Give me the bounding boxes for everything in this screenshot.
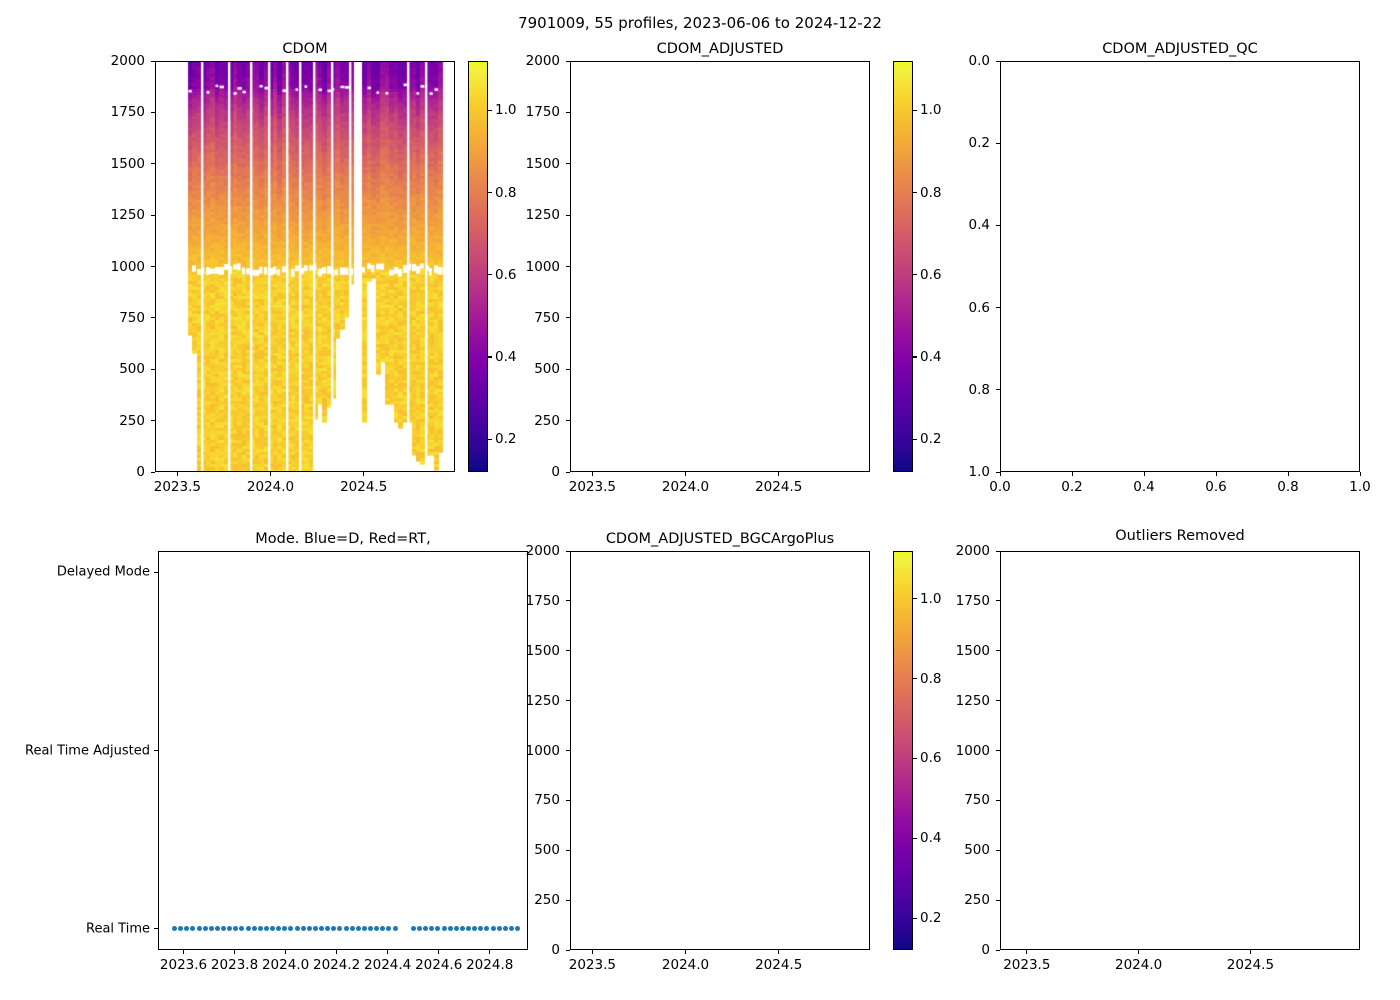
x-tick-label: 2024.2 [313,957,360,973]
y-tick-label: 1500 [890,643,990,659]
y-tick-label: 750 [890,792,990,808]
y-tick-mark [151,266,155,267]
colorbar-tick-label: 0.4 [920,349,941,365]
x-tick-mark [778,950,779,954]
x-tick-label: 2024.8 [466,957,513,973]
x-tick-mark [1072,472,1073,476]
y-tick-mark [566,472,570,473]
x-tick-mark [270,472,271,476]
x-tick-label: 2023.6 [160,957,207,973]
y-tick-label: 250 [460,413,560,429]
y-tick-label: 1500 [460,643,560,659]
y-tick-label: 1000 [45,259,145,275]
y-tick-mark [996,850,1000,851]
colorbar-tick-mark [913,192,917,193]
x-tick-mark [336,950,337,954]
x-tick-mark [177,472,178,476]
y-tick-mark [996,950,1000,951]
mode-data-point [448,926,453,931]
y-tick-mark [996,61,1000,62]
bgcargoplus-heatmap-axes[interactable] [570,551,870,950]
x-tick-mark [438,950,439,954]
y-tick-mark [151,112,155,113]
y-tick-mark [566,420,570,421]
y-tick-mark [996,143,1000,144]
colorbar-tick-mark [913,678,917,679]
y-tick-label: 1500 [45,156,145,172]
x-tick-label: 0.6 [1205,479,1226,495]
x-tick-mark [363,472,364,476]
colorbar-tick-label: 1.0 [920,102,941,118]
x-tick-label: 2024.0 [247,479,294,495]
y-tick-mark [996,700,1000,701]
cdom-heatmap-image [156,62,455,472]
y-tick-mark [566,317,570,318]
y-tick-label: 1750 [460,593,560,609]
colorbar-tick-mark [913,274,917,275]
colorbar-tick-mark [913,110,917,111]
colorbar-tick-label: 0.6 [920,267,941,283]
y-tick-label: 0.6 [890,300,990,316]
y-tick-mark [996,307,1000,308]
panel-bgcargoplus-title-line1: CDOM_ADJUSTED_BGCArgoPlus [606,531,834,547]
y-tick-mark [151,163,155,164]
y-tick-label: 2000 [460,543,560,559]
mode-data-point [442,926,447,931]
y-tick-label: 2000 [460,53,560,69]
y-tick-label: 1000 [460,743,560,759]
y-tick-label: 0 [460,942,560,958]
x-tick-mark [685,472,686,476]
y-tick-label: 1000 [460,259,560,275]
y-tick-mark [566,800,570,801]
y-tick-label: 0.2 [890,135,990,151]
colorbar-tick-label: 0.8 [495,185,516,201]
x-tick-label: 2024.4 [364,957,411,973]
cdom-adjusted-colorbar [893,61,913,472]
cdom-adjusted-qc-axes[interactable] [1000,61,1360,472]
mode-data-point [307,926,312,931]
y-tick-mark [996,900,1000,901]
y-tick-mark [151,420,155,421]
mode-data-point [393,926,398,931]
x-tick-label: 2023.5 [569,479,616,495]
colorbar-tick-label: 0.2 [920,910,941,926]
y-tick-mark [996,750,1000,751]
y-tick-label: 750 [460,792,560,808]
y-tick-label: 1250 [460,207,560,223]
y-tick-label: 2000 [890,543,990,559]
y-tick-mark [566,700,570,701]
y-tick-label: 1000 [890,743,990,759]
x-tick-mark [1288,472,1289,476]
mode-category-label: Real Time Adjusted [0,743,150,758]
y-tick-label: 1250 [460,693,560,709]
mode-data-point [209,926,214,931]
y-tick-label: 0 [45,464,145,480]
mode-category-label: Real Time [0,921,150,936]
x-tick-label: 0.4 [1133,479,1154,495]
outliers-removed-axes[interactable] [1000,551,1360,950]
colorbar-tick-mark [913,439,917,440]
colorbar-tick-mark [913,918,917,919]
y-tick-mark [566,61,570,62]
x-tick-label: 2024.0 [662,957,709,973]
y-tick-label: 750 [460,310,560,326]
y-tick-mark [151,317,155,318]
mode-data-point [301,926,306,931]
colorbar-tick-mark [913,356,917,357]
x-tick-mark [183,950,184,954]
x-tick-mark [592,950,593,954]
y-tick-mark [996,600,1000,601]
y-tick-mark [996,225,1000,226]
y-tick-label: 500 [890,842,990,858]
x-tick-mark [1144,472,1145,476]
mode-data-point [356,926,361,931]
x-tick-mark [1360,472,1361,476]
colorbar-tick-mark [488,356,492,357]
cdom-adjusted-colorbar-gradient [894,62,912,471]
y-tick-mark [151,215,155,216]
x-tick-mark [285,950,286,954]
mode-data-point [503,926,508,931]
x-tick-mark [234,950,235,954]
panel-outliers-removed-title: Outliers Removed [1000,527,1360,546]
x-tick-mark [1250,950,1251,954]
x-tick-mark [1138,950,1139,954]
colorbar-tick-label: 0.2 [495,431,516,447]
y-tick-label: 0 [890,942,990,958]
y-tick-label: 0.0 [890,53,990,69]
mode-data-point [350,926,355,931]
y-tick-mark [566,900,570,901]
y-tick-label: 1250 [890,693,990,709]
mode-data-point [344,926,349,931]
colorbar-tick-label: 0.2 [920,431,941,447]
y-tick-mark [566,950,570,951]
y-tick-mark [154,750,158,751]
y-tick-mark [996,650,1000,651]
mode-data-point [454,926,459,931]
y-tick-mark [996,551,1000,552]
y-tick-label: 1750 [460,104,560,120]
x-tick-mark [387,950,388,954]
mode-data-point [197,926,202,931]
y-tick-label: 0.4 [890,217,990,233]
x-tick-mark [592,472,593,476]
y-tick-label: 250 [890,892,990,908]
y-tick-mark [566,551,570,552]
colorbar-tick-mark [488,439,492,440]
x-tick-mark [1216,472,1217,476]
x-tick-label: 2024.0 [1115,957,1162,973]
y-tick-label: 0.8 [890,382,990,398]
x-tick-mark [1026,950,1027,954]
y-tick-label: 0 [460,464,560,480]
x-tick-label: 0.8 [1277,479,1298,495]
panel-cdom-title: CDOM [155,40,455,59]
y-tick-label: 2000 [45,53,145,69]
mode-data-point [497,926,502,931]
y-tick-mark [566,112,570,113]
y-tick-label: 1.0 [890,464,990,480]
panel-cdom-adjusted-qc-title: CDOM_ADJUSTED_QC [1000,40,1360,59]
y-tick-label: 750 [45,310,145,326]
y-tick-mark [154,572,158,573]
x-tick-label: 2024.5 [1227,957,1274,973]
x-tick-mark [685,950,686,954]
y-tick-mark [151,61,155,62]
x-tick-mark [778,472,779,476]
y-tick-mark [566,850,570,851]
colorbar-tick-mark [488,192,492,193]
y-tick-mark [566,163,570,164]
x-tick-label: 0.0 [989,479,1010,495]
x-tick-label: 1.0 [1349,479,1370,495]
y-tick-mark [566,650,570,651]
y-tick-label: 1750 [890,593,990,609]
mode-data-point [295,926,300,931]
y-tick-mark [996,800,1000,801]
y-tick-mark [151,369,155,370]
y-tick-label: 1750 [45,104,145,120]
y-tick-mark [154,928,158,929]
x-tick-label: 2023.5 [1003,957,1050,973]
x-tick-label: 2023.8 [211,957,258,973]
colorbar-tick-mark [913,838,917,839]
y-tick-mark [151,472,155,473]
y-tick-label: 500 [45,361,145,377]
y-tick-mark [566,266,570,267]
y-tick-label: 250 [460,892,560,908]
y-tick-label: 1250 [45,207,145,223]
y-tick-mark [566,600,570,601]
mode-data-point [491,926,496,931]
mode-data-point [203,926,208,931]
x-tick-label: 2024.5 [755,479,802,495]
y-tick-label: 500 [460,842,560,858]
x-tick-label: 2023.5 [154,479,201,495]
x-tick-label: 2023.5 [569,957,616,973]
y-tick-mark [566,750,570,751]
y-tick-mark [566,369,570,370]
cdom-adjusted-heatmap-axes[interactable] [570,61,870,472]
panel-mode-title-line1: Mode. Blue=D, Red=RT, [255,531,431,547]
colorbar-tick-label: 0.8 [920,185,941,201]
y-tick-mark [566,215,570,216]
figure-suptitle: 7901009, 55 profiles, 2023-06-06 to 2024… [0,14,1400,32]
cdom-heatmap-axes[interactable] [155,61,455,472]
x-tick-label: 2024.6 [415,957,462,973]
mode-category-label: Delayed Mode [0,565,150,580]
y-tick-label: 500 [460,361,560,377]
colorbar-tick-label: 0.8 [920,671,941,687]
mode-data-point [246,926,251,931]
x-tick-label: 2024.0 [662,479,709,495]
x-tick-label: 2024.0 [262,957,309,973]
y-tick-label: 1500 [460,156,560,172]
x-tick-label: 0.2 [1061,479,1082,495]
x-tick-label: 2024.5 [340,479,387,495]
mode-data-point [258,926,263,931]
x-tick-mark [1000,472,1001,476]
panel-cdom-adjusted-title: CDOM_ADJUSTED [570,40,870,59]
x-tick-label: 2024.5 [755,957,802,973]
mode-data-point [252,926,257,931]
y-tick-mark [996,389,1000,390]
y-tick-label: 250 [45,413,145,429]
figure-canvas: 7901009, 55 profiles, 2023-06-06 to 2024… [0,0,1400,1000]
